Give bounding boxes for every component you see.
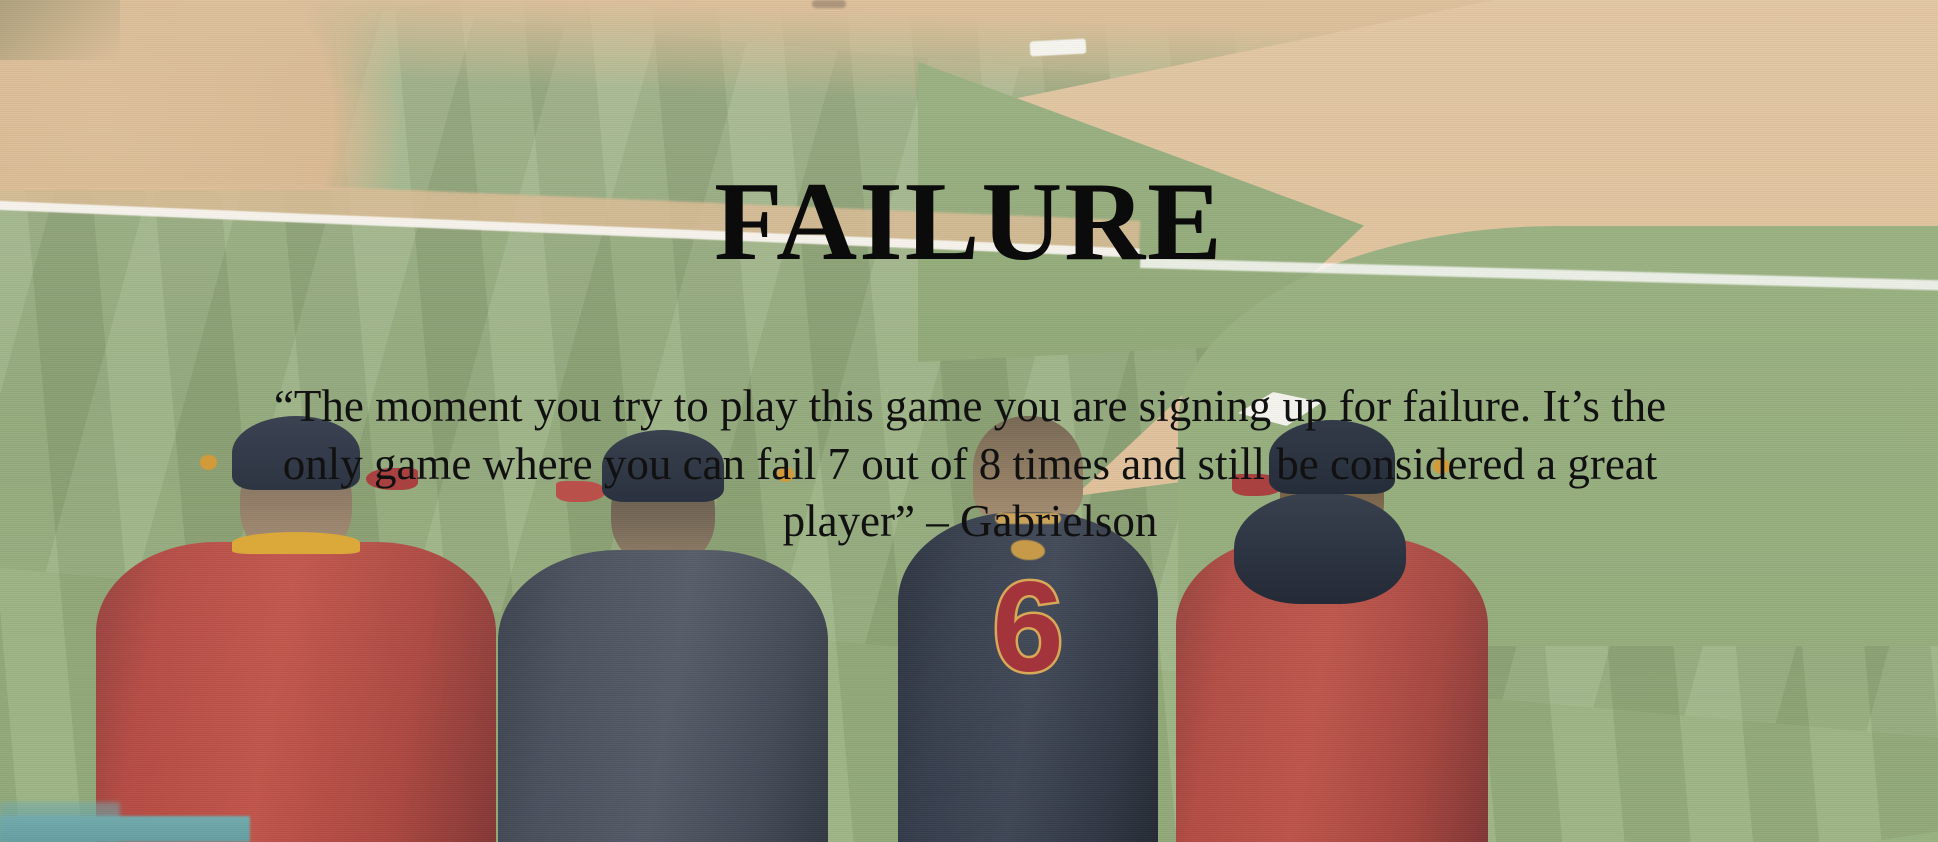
jacket-body xyxy=(498,550,828,842)
quote-block: “The moment you try to play this game yo… xyxy=(200,378,1740,551)
dugout-rail xyxy=(0,816,250,842)
grass-shadow-top-left xyxy=(0,0,120,60)
quote-line-1: “The moment you try to play this game yo… xyxy=(200,378,1740,436)
jersey-number: 6 xyxy=(992,564,1063,692)
page-title: FAILURE xyxy=(0,166,1938,278)
jacket-body xyxy=(96,542,496,842)
quote-line-2: only game where you can fail 7 out of 8 … xyxy=(200,436,1740,494)
base-marker-top xyxy=(1030,39,1087,57)
pitching-rubber-mark xyxy=(812,0,846,8)
slide-canvas: 6 FAILURE “The moment you try to play th… xyxy=(0,0,1938,842)
quote-line-3: player” – Gabrielson xyxy=(200,493,1740,551)
